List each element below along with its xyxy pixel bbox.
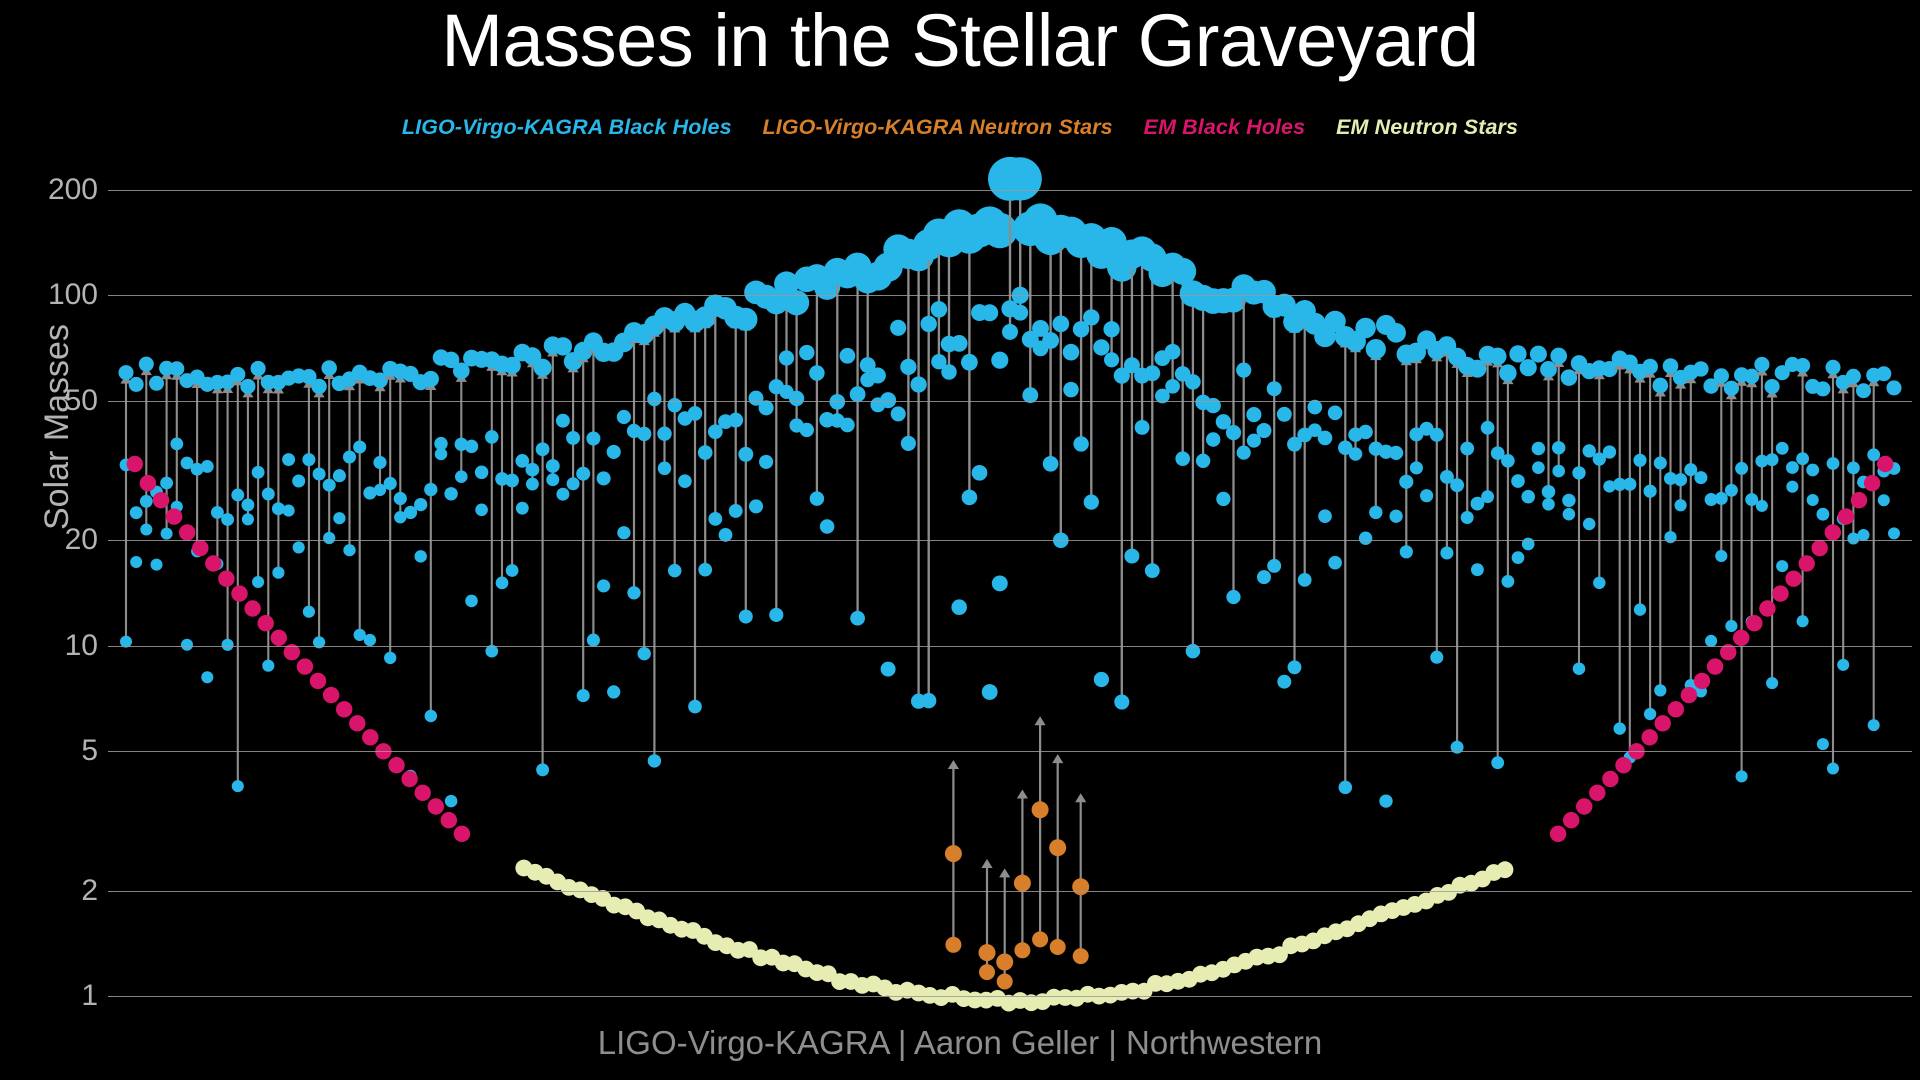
em-black-hole-marker [1785, 571, 1801, 587]
lvk-black-hole-marker [161, 528, 173, 540]
lvk-black-hole-marker [384, 477, 397, 490]
lvk-black-hole-marker [1165, 344, 1181, 360]
lvk-black-hole-marker [292, 475, 305, 488]
merger-arrow [303, 379, 314, 612]
lvk-black-hole-marker [728, 413, 743, 428]
lvk-black-hole-marker [617, 410, 631, 424]
lvk-black-hole-marker [1216, 492, 1230, 506]
merger-arrow [669, 324, 680, 571]
merger-arrow [710, 308, 721, 519]
lvk-black-hole-marker [982, 684, 998, 700]
lvk-black-hole-marker [1369, 506, 1382, 519]
lvk-black-hole-marker [820, 519, 835, 534]
lvk-black-hole-marker [850, 386, 866, 402]
lvk-black-hole-marker [455, 470, 468, 483]
lvk-black-hole-marker [1073, 436, 1088, 451]
lvk-black-hole-marker [546, 473, 559, 486]
lvk-black-hole-marker [779, 350, 794, 365]
lvk-black-hole-marker [1359, 531, 1372, 544]
lvk-black-hole-marker [321, 360, 336, 375]
lvk-black-hole-marker [1786, 481, 1798, 493]
merger-arrow [161, 370, 172, 533]
lvk-black-hole-marker [1386, 323, 1406, 343]
lvk-black-hole-marker [1827, 457, 1840, 470]
em-black-hole-marker [1838, 508, 1854, 524]
lvk-black-hole-marker [1807, 494, 1819, 506]
lvk-black-hole-marker [678, 474, 692, 488]
lvk-black-hole-marker [140, 495, 153, 508]
em-black-hole-marker [1576, 798, 1592, 814]
lvk-black-hole-marker [1257, 570, 1271, 584]
lvk-black-hole-marker [1724, 381, 1739, 396]
lvk-black-hole-marker [1542, 485, 1555, 498]
lvk-black-hole-marker [1888, 527, 1900, 539]
lvk-black-hole-marker [1165, 379, 1180, 394]
merger-arrow [1086, 241, 1097, 502]
merger-arrow [1736, 377, 1747, 777]
lvk-black-hole-marker [1288, 660, 1302, 674]
lvk-black-hole-marker [475, 466, 489, 480]
merger-arrow [1767, 389, 1778, 684]
lvk-black-hole-marker [1825, 360, 1840, 375]
em-black-hole-marker [205, 555, 221, 571]
plot-area: 125102050100200 [0, 0, 1920, 1080]
lvk-black-hole-marker [800, 423, 814, 437]
lvk-black-hole-marker [1185, 374, 1201, 390]
lvk-black-hole-marker [1400, 545, 1413, 558]
lvk-black-hole-marker [323, 479, 336, 492]
merger-arrow [1868, 377, 1879, 725]
lvk-black-hole-marker [283, 505, 295, 517]
merger-arrow [212, 384, 223, 564]
lvk-black-hole-marker [991, 352, 1008, 369]
y-tick-label-2: 2 [10, 874, 98, 908]
lvk-black-hole-marker [1552, 441, 1565, 454]
lvk-black-hole-marker [554, 337, 572, 355]
lvk-black-hole-marker [961, 354, 978, 371]
lvk-black-hole-marker [1196, 454, 1210, 468]
lvk-neutron-star-marker [1032, 931, 1048, 947]
lvk-black-hole-marker [1552, 465, 1565, 478]
lvk-black-hole-marker [1816, 508, 1829, 521]
lvk-black-hole-marker [1868, 719, 1880, 731]
em-black-hole-marker [1668, 701, 1684, 717]
em-black-hole-marker [1812, 540, 1828, 556]
lvk-black-hole-marker [526, 478, 539, 491]
em-black-hole-marker [310, 673, 326, 689]
lvk-black-hole-marker [1674, 473, 1687, 486]
merger-arrow [659, 320, 670, 469]
lvk-black-hole-marker [170, 437, 183, 450]
lvk-black-hole-marker [1786, 461, 1799, 474]
lvk-black-hole-marker [784, 290, 809, 315]
lvk-black-hole-marker [485, 645, 498, 658]
merger-arrow [791, 305, 802, 426]
lvk-neutron-star-marker [1049, 839, 1066, 856]
lvk-black-hole-marker [1277, 407, 1292, 422]
lvk-black-hole-marker [1796, 452, 1809, 465]
lvk-black-hole-marker [140, 524, 152, 536]
lvk-black-hole-marker [1349, 447, 1362, 460]
lvk-black-hole-marker [230, 367, 245, 382]
lvk-black-hole-marker [252, 466, 265, 479]
lvk-black-hole-marker [1806, 464, 1819, 477]
lvk-neutron-star-marker [996, 954, 1013, 971]
lvk-black-hole-marker [1236, 363, 1251, 378]
lvk-black-hole-marker [789, 391, 804, 406]
em-black-hole-marker [1851, 492, 1867, 508]
lvk-black-hole-marker [556, 488, 569, 501]
lvk-black-hole-marker [496, 577, 509, 590]
lvk-black-hole-marker [1144, 365, 1160, 381]
lvk-black-hole-marker [1572, 466, 1585, 479]
em-black-hole-marker [1655, 715, 1671, 731]
lvk-black-hole-marker [1776, 560, 1788, 572]
em-black-hole-marker [271, 630, 287, 646]
lvk-black-hole-marker [129, 377, 144, 392]
lvk-black-hole-marker [1175, 451, 1190, 466]
lvk-black-hole-marker [1756, 500, 1768, 512]
merger-arrow [1828, 369, 1839, 768]
em-black-hole-marker [1550, 826, 1566, 842]
lvk-black-hole-marker [1481, 490, 1494, 503]
lvk-black-hole-marker [1052, 315, 1069, 332]
lvk-black-hole-marker [1562, 494, 1575, 507]
lvk-neutron-star-marker [1014, 875, 1031, 892]
em-black-hole-marker [454, 826, 470, 842]
y-tick-label-100: 100 [10, 278, 98, 312]
lvk-black-hole-marker [1887, 380, 1902, 395]
lvk-black-hole-marker [1093, 339, 1109, 355]
lvk-black-hole-marker [1084, 494, 1099, 509]
merger-arrow [354, 375, 365, 635]
lvk-black-hole-marker [130, 506, 143, 519]
lvk-black-hole-marker [1430, 428, 1444, 442]
lvk-black-hole-marker [1355, 318, 1376, 339]
em-black-hole-marker [297, 658, 313, 674]
lvk-black-hole-marker [586, 431, 600, 445]
lvk-black-hole-marker [353, 440, 366, 453]
merger-arrow [1614, 361, 1625, 729]
lvk-black-hole-marker [1623, 478, 1636, 491]
lvk-black-hole-marker [597, 471, 611, 485]
merger-arrow [852, 269, 863, 619]
em-black-hole-marker [336, 701, 352, 717]
lvk-black-hole-marker [1237, 446, 1251, 460]
lvk-black-hole-marker [1693, 361, 1708, 376]
lvk-black-hole-marker [981, 304, 998, 321]
lvk-black-hole-marker [1246, 407, 1261, 422]
lvk-black-hole-marker [423, 371, 439, 387]
lvk-black-hole-marker [465, 595, 478, 608]
em-black-hole-marker [401, 771, 417, 787]
em-black-hole-marker [231, 585, 247, 601]
lvk-black-hole-marker [506, 564, 519, 577]
em-black-hole-marker [1746, 615, 1762, 631]
lvk-black-hole-marker [536, 442, 550, 456]
lvk-black-hole-marker [1499, 364, 1516, 381]
lvk-black-hole-marker [1512, 551, 1525, 564]
lvk-black-hole-marker [160, 477, 173, 490]
lvk-black-hole-marker [999, 157, 1042, 200]
lvk-black-hole-marker [139, 357, 154, 372]
merger-arrow [1441, 348, 1452, 554]
lvk-black-hole-marker [1399, 475, 1413, 489]
lvk-black-hole-marker [921, 693, 936, 708]
em-black-hole-marker [179, 524, 195, 540]
lvk-black-hole-marker [1583, 518, 1595, 530]
gridline-20 [108, 540, 1912, 541]
lvk-black-hole-marker [891, 406, 906, 421]
em-black-hole-marker [1694, 673, 1710, 689]
lvk-black-hole-marker [262, 660, 274, 672]
em-black-hole-marker [1772, 585, 1788, 601]
merger-arrow [1431, 352, 1442, 657]
gridline-2 [108, 891, 1912, 892]
lvk-black-hole-marker [1540, 361, 1557, 378]
lvk-neutron-star-marker [979, 964, 995, 980]
lvk-neutron-star-marker [997, 974, 1013, 990]
em-black-hole-marker [192, 540, 208, 556]
lvk-black-hole-marker [1563, 508, 1576, 521]
lvk-black-hole-marker [1815, 381, 1830, 396]
lvk-black-hole-marker [1766, 677, 1778, 689]
lvk-black-hole-marker [1754, 357, 1769, 372]
y-tick-label-10: 10 [10, 629, 98, 663]
lvk-black-hole-marker [931, 301, 948, 318]
lvk-black-hole-marker [1502, 575, 1515, 588]
lvk-black-hole-marker [941, 364, 956, 379]
lvk-black-hole-marker [657, 426, 671, 440]
merger-arrow [1665, 368, 1676, 537]
lvk-black-hole-marker [343, 544, 355, 556]
lvk-black-hole-marker [1867, 448, 1880, 461]
gridline-1 [108, 996, 1912, 997]
lvk-black-hole-marker [1766, 453, 1779, 466]
lvk-black-hole-marker [1256, 423, 1271, 438]
lvk-black-hole-marker [1043, 456, 1059, 472]
lvk-black-hole-marker [668, 564, 682, 578]
lvk-black-hole-marker [1389, 446, 1403, 460]
lvk-black-hole-marker [394, 492, 407, 505]
lvk-black-hole-marker [536, 763, 549, 776]
lvk-black-hole-marker [1509, 345, 1526, 362]
lvk-black-hole-marker [1471, 563, 1484, 576]
merger-arrow [537, 370, 548, 770]
lvk-black-hole-marker [577, 689, 590, 702]
lvk-black-hole-marker [364, 634, 376, 646]
lvk-black-hole-marker [708, 512, 722, 526]
em-neutron-star-marker [1497, 861, 1514, 878]
em-black-hole-marker [127, 456, 143, 472]
merger-arrow [273, 385, 284, 573]
lvk-black-hole-marker [759, 400, 774, 415]
lvk-black-hole-marker [1358, 425, 1372, 439]
lvk-black-hole-marker [526, 463, 540, 477]
lvk-black-hole-marker [1797, 615, 1809, 627]
lvk-black-hole-marker [1573, 662, 1586, 675]
lvk-black-hole-marker [1298, 573, 1312, 587]
lvk-black-hole-marker [658, 462, 671, 475]
lvk-black-hole-marker [485, 430, 499, 444]
merger-arrow [425, 381, 436, 716]
lvk-black-hole-marker [1328, 406, 1343, 421]
lvk-black-hole-marker [1644, 485, 1657, 498]
y-axis-title: Solar Masses [38, 324, 77, 530]
lvk-black-hole-marker [698, 563, 712, 577]
lvk-black-hole-marker [516, 502, 529, 515]
lvk-black-hole-marker [1145, 563, 1160, 578]
lvk-black-hole-marker [1776, 442, 1789, 455]
merger-arrow [923, 247, 934, 701]
lvk-black-hole-marker [992, 575, 1008, 591]
em-black-hole-marker [1563, 812, 1579, 828]
lvk-black-hole-marker [1715, 492, 1728, 505]
merger-arrow [700, 319, 711, 569]
em-black-hole-marker [415, 785, 431, 801]
lvk-black-hole-marker [617, 526, 630, 539]
lvk-black-hole-marker [149, 376, 164, 391]
merger-arrow [1543, 371, 1554, 504]
lvk-black-hole-marker [323, 532, 335, 544]
lvk-black-hole-marker [384, 652, 396, 664]
lvk-black-hole-marker [1124, 549, 1139, 564]
merger-arrow [1685, 374, 1696, 685]
merger-arrow [811, 279, 822, 498]
lvk-black-hole-marker [1715, 550, 1727, 562]
merger-arrow [1187, 296, 1198, 651]
lvk-black-hole-marker [201, 671, 213, 683]
lvk-black-hole-marker [840, 418, 855, 433]
lvk-black-hole-marker [1103, 321, 1119, 337]
lvk-black-hole-marker [1420, 489, 1433, 502]
lvk-black-hole-marker [1389, 510, 1402, 523]
lvk-black-hole-marker [1491, 756, 1504, 769]
lvk-black-hole-marker [901, 436, 916, 451]
lvk-black-hole-marker [1104, 352, 1119, 367]
lvk-black-hole-marker [1063, 344, 1080, 361]
lvk-black-hole-marker [1501, 454, 1515, 468]
lvk-black-hole-marker [282, 453, 295, 466]
lvk-black-hole-marker [130, 556, 142, 568]
em-black-hole-marker [1799, 555, 1815, 571]
lvk-black-hole-marker [920, 316, 936, 332]
merger-arrow [385, 371, 396, 658]
merger-arrow [324, 370, 335, 538]
em-black-hole-marker [153, 492, 169, 508]
merger-arrow [1269, 308, 1280, 566]
credit-line: LIGO-Virgo-KAGRA | Aaron Geller | Northw… [0, 1024, 1920, 1062]
lvk-black-hole-marker [1654, 684, 1666, 696]
lvk-black-hole-marker [576, 467, 590, 481]
lvk-black-hole-marker [1206, 432, 1220, 446]
lvk-black-hole-marker [1530, 346, 1547, 363]
em-black-hole-marker [1589, 785, 1605, 801]
lvk-black-hole-marker [1633, 454, 1646, 467]
em-black-hole-marker [1707, 658, 1723, 674]
lvk-black-hole-marker [1002, 324, 1018, 340]
lvk-black-hole-marker [1878, 494, 1890, 506]
lvk-black-hole-marker [1674, 499, 1686, 511]
lvk-black-hole-marker [414, 498, 427, 511]
lvk-black-hole-marker [1481, 421, 1495, 435]
lvk-black-hole-marker [169, 361, 184, 376]
merger-arrow [120, 375, 131, 642]
lvk-black-hole-marker [505, 474, 519, 488]
lvk-black-hole-marker [1410, 461, 1423, 474]
lvk-black-hole-marker [151, 559, 163, 571]
lvk-black-hole-marker [231, 489, 244, 502]
lvk-black-hole-marker [1328, 556, 1342, 570]
merger-arrow [689, 323, 700, 706]
lvk-black-hole-marker [729, 504, 743, 518]
lvk-black-hole-marker [252, 576, 264, 588]
lvk-black-hole-marker [1827, 762, 1839, 774]
merger-arrow [1147, 260, 1158, 571]
lvk-black-hole-marker [475, 503, 488, 516]
merger-arrow [1594, 370, 1605, 583]
lvk-black-hole-marker [1461, 511, 1474, 524]
lvk-black-hole-marker [1735, 462, 1748, 475]
em-black-hole-marker [1877, 456, 1893, 472]
merger-arrow [1675, 380, 1686, 506]
lvk-black-hole-marker [1012, 305, 1028, 321]
lvk-black-hole-marker [1634, 603, 1646, 615]
em-black-hole-marker [258, 615, 274, 631]
merger-arrow [740, 321, 751, 616]
merger-arrow [1411, 354, 1422, 468]
gridline-50 [108, 401, 1912, 402]
em-black-hole-marker [349, 715, 365, 731]
lvk-black-hole-marker [1817, 738, 1829, 750]
lvk-black-hole-marker [698, 445, 713, 460]
lvk-black-hole-marker [251, 361, 266, 376]
gridline-5 [108, 751, 1912, 752]
lvk-black-hole-marker [435, 448, 448, 461]
lvk-black-hole-marker [1532, 461, 1545, 474]
lvk-black-hole-marker [1339, 781, 1353, 795]
lvk-black-hole-marker [1725, 484, 1738, 497]
em-black-hole-marker [140, 475, 156, 491]
lvk-black-hole-marker [201, 460, 214, 473]
lvk-black-hole-marker [1379, 794, 1392, 807]
em-black-hole-marker [244, 600, 260, 616]
lvk-black-hole-marker [242, 513, 254, 525]
lvk-black-hole-marker [1846, 369, 1861, 384]
lvk-black-hole-marker [424, 483, 437, 496]
merger-arrow [486, 362, 497, 651]
lvk-black-hole-marker [303, 606, 315, 618]
merger-arrow [1573, 365, 1584, 668]
lvk-black-hole-marker [302, 453, 315, 466]
lvk-black-hole-marker [373, 456, 386, 469]
y-tick-label-200: 200 [10, 173, 98, 207]
lvk-black-hole-marker [1694, 471, 1707, 484]
lvk-black-hole-marker [311, 379, 326, 394]
lvk-black-hole-marker [556, 414, 570, 428]
lvk-black-hole-marker [1765, 379, 1780, 394]
merger-arrow [1289, 324, 1300, 668]
lvk-black-hole-marker [607, 685, 620, 698]
lvk-black-hole-marker [1847, 462, 1860, 475]
lvk-black-hole-marker [810, 491, 824, 505]
merger-arrow [1126, 256, 1137, 556]
em-black-hole-marker [1759, 600, 1775, 616]
merger-arrow [314, 388, 325, 642]
lvk-black-hole-marker [1083, 309, 1099, 325]
lvk-black-hole-marker [1532, 442, 1546, 456]
lvk-black-hole-marker [648, 754, 661, 767]
